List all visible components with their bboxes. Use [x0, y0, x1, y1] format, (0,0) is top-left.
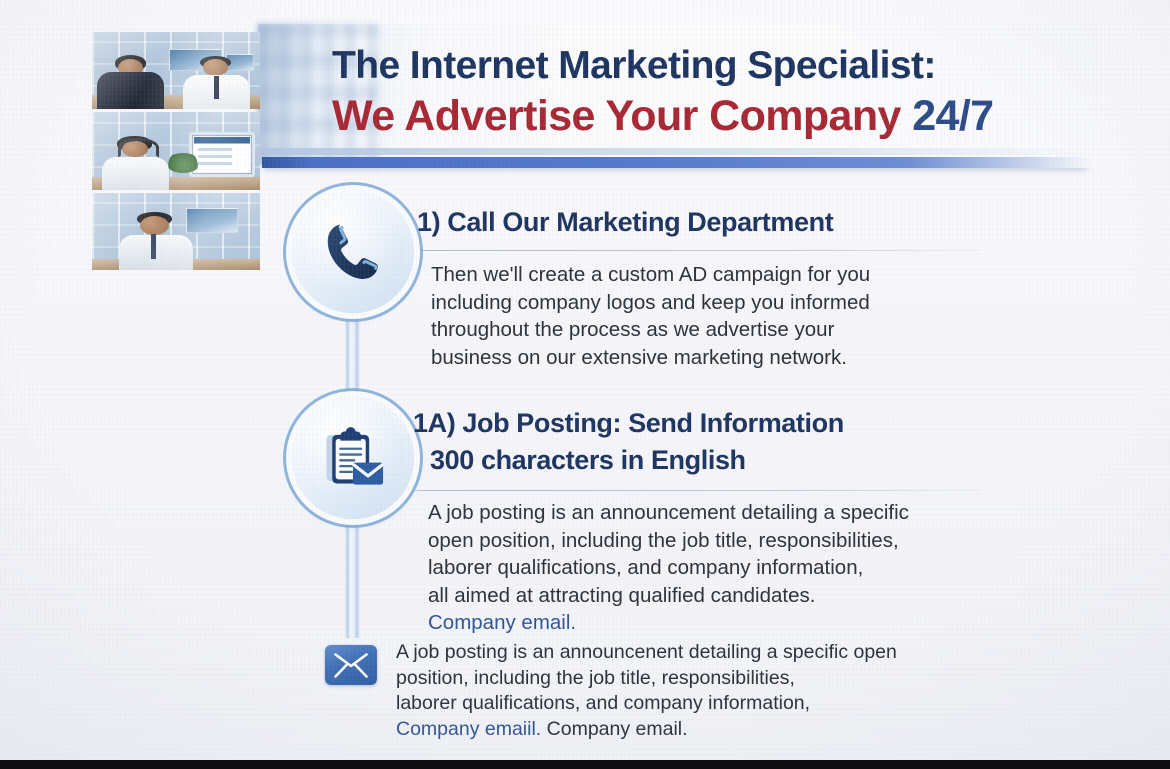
step-1-body-line-2: including company logos and keep you inf…	[431, 289, 961, 317]
clipboard-envelope-icon	[316, 421, 390, 495]
photo1-glass-overlay	[92, 32, 260, 109]
step-1a-body-line-2: open position, including the job title, …	[428, 527, 958, 555]
footnote-line-2: position, including the job title, respo…	[396, 666, 956, 692]
step-1a-heading-2: 300 characters in English	[430, 445, 746, 476]
footnote-trailing-text: Company email.	[541, 718, 687, 740]
timeline-connector-lower	[345, 498, 360, 638]
footnote-line-3: laborer qualifications, and company info…	[396, 691, 956, 717]
footnote-company-email-link[interactable]: Company emaiil.	[396, 718, 541, 740]
photo2-glass-overlay	[92, 112, 260, 189]
phone-handset-icon	[317, 216, 389, 288]
envelope-glyph-icon	[334, 653, 368, 678]
step-1a-body-line-1: A job posting is an announcement detaili…	[428, 499, 958, 527]
header-soft-rule	[262, 148, 1094, 155]
footnote-line-1: A job posting is an announcenent detaili…	[396, 640, 956, 666]
collage-photo-1	[92, 32, 260, 109]
step-1-heading: 1) Call Our Marketing Department	[417, 207, 833, 238]
step-1a-icon-disc	[292, 397, 414, 519]
page-title-line1: The Internet Marketing Specialist:	[332, 44, 936, 88]
page-title-hours-badge: 24/7	[912, 92, 993, 140]
photo-collage	[92, 32, 260, 270]
marketing-infographic-slide: The Internet Marketing Specialist: We Ad…	[0, 0, 1170, 769]
footnote-last-line: Company emaiil. Company email.	[396, 717, 956, 743]
step-1a-body: A job posting is an announcement detaili…	[428, 499, 958, 637]
collage-photo-2	[92, 112, 260, 189]
step-1a-rule	[402, 490, 980, 491]
page-title-line2: We Advertise Your Company 24/7	[332, 92, 993, 141]
step-1-body-line-4: business on our extensive marketing netw…	[431, 344, 961, 372]
step-1a-heading: 1A) Job Posting: Send Information	[413, 408, 844, 439]
page-title-line2-main: We Advertise Your Company	[332, 92, 912, 140]
photo3-glass-overlay	[92, 193, 260, 270]
step-1a-body-line-3: laborer qualifications, and company info…	[428, 554, 958, 582]
step-1a-body-line-4: all aimed at attracting qualified candid…	[428, 582, 958, 610]
envelope-icon[interactable]	[325, 645, 377, 685]
step-1-icon-disc	[292, 191, 414, 313]
step-1-rule	[402, 250, 980, 251]
footnote-block: A job posting is an announcenent detaili…	[396, 640, 956, 742]
step-1-body-line-1: Then we'll create a custom AD campaign f…	[431, 261, 961, 289]
step-1a-company-email-link[interactable]: Company email.	[428, 609, 958, 637]
step-1-body-line-3: throughout the process as we advertise y…	[431, 316, 961, 344]
step-1-body: Then we'll create a custom AD campaign f…	[431, 261, 961, 371]
collage-photo-3	[92, 193, 260, 270]
header-panel: The Internet Marketing Specialist: We Ad…	[258, 24, 1098, 164]
header-accent-bar	[262, 157, 1090, 168]
